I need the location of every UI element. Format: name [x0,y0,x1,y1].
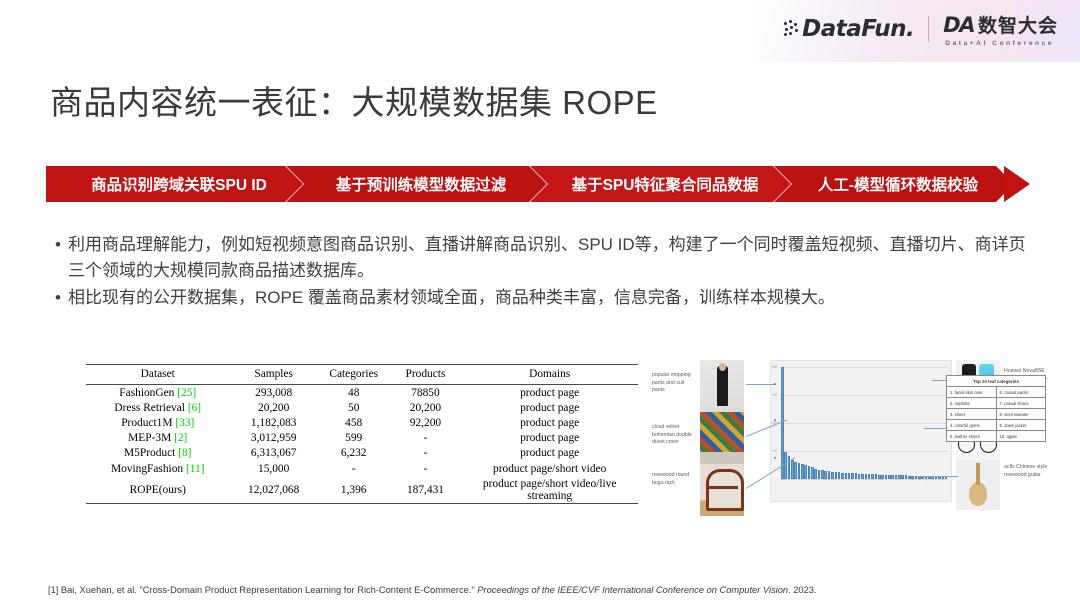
category-distribution-chart: 400 300 200 100 facial skin carenephrite… [770,360,952,502]
chart-bar [824,471,827,479]
chart-bar [828,471,831,479]
chart-bar [818,470,821,479]
top10-right-3: 8. wool sweater [996,409,1046,419]
cell-domains: product page [461,446,638,461]
process-step-3[interactable]: 基于SPU特征聚合同品数据 [530,166,792,202]
y-tick-3: 100 [772,449,777,453]
process-step-3-label: 基于SPU特征聚合同品数据 [572,173,759,195]
right-caption-3: acfls Chinese style rosewood guitar [1004,464,1050,479]
table-row: 3. sheet 8. wool sweater [947,409,1045,420]
bullet-list: • 利用商品理解能力，例如短视频意图商品识别、直播讲解商品识别、SPU ID等，… [48,232,1038,311]
process-step-2-label: 基于预训练模型数据过滤 [336,173,507,195]
top10-right-2: 7. casual shoes [996,398,1046,408]
cell-samples: 20,200 [230,400,318,415]
dataset-name: ROPE(ours) [130,484,186,496]
top10-right-4: 9. down jacket [996,420,1046,430]
citation-ref: [11] [186,463,205,475]
bullet-text-2: 相比现有的公开数据集，ROPE 覆盖商品素材领域全面，商品种类丰富，信息完备，训… [68,285,1038,311]
cell-samples: 3,012,959 [230,431,318,446]
dataset-name: MovingFashion [111,463,183,475]
dataset-name: Dress Retrieval [114,402,185,414]
left-caption-1: popular mopping pants and suit pants [652,372,698,395]
chart-bar [835,472,838,479]
col-header-categories: Categories [318,365,390,385]
citation-ref: [6] [188,402,201,414]
cell-domains: product page [461,431,638,446]
cell-dataset: ROPE(ours) [86,476,230,504]
dataset-name: MEP-3M [128,432,171,444]
cell-domains: product page [461,415,638,430]
cell-products: - [390,461,462,476]
cell-categories: - [318,461,390,476]
datafun-wordmark: DataFun. [802,16,914,42]
cell-domains: product page/short video [461,461,638,476]
top10-left-1: 1. facial skin care [947,387,996,397]
chart-bars [781,367,947,479]
process-step-1[interactable]: 商品识别跨域关联SPU ID [46,166,304,202]
cell-samples: 293,008 [230,385,318,401]
cell-samples: 12,027,068 [230,476,318,504]
y-tick-1: 300 [772,393,777,397]
da-mark: DA [943,13,974,37]
chart-bar [811,467,814,479]
table-row: ROPE(ours) 12,027,068 1,396 187,431 prod… [86,476,638,504]
cell-domains: product page/short video/live streaming [461,476,638,504]
top10-left-2: 2. nephrite [947,398,996,408]
cell-samples: 6,313,067 [230,446,318,461]
citation-ref: [25] [177,387,196,399]
top10-title: Top 10 leaf categories [947,376,1045,387]
cell-categories: 6,232 [318,446,390,461]
table-row: MovingFashion [11] 15,000 - - product pa… [86,461,638,476]
top10-left-5: 5. leather shoes [947,431,996,441]
cell-categories: 50 [318,400,390,415]
footnote-citation: [1] Bai, Xuehan, et al. "Cross-Domain Pr… [48,584,1048,596]
chart-bar [814,469,817,479]
bullet-marker-icon: • [48,232,68,258]
cell-dataset: MEP-3M [2] [86,431,230,446]
table-header: Dataset Samples Categories Products Doma… [86,365,638,385]
chart-bar [781,367,784,479]
table-header-row: Dataset Samples Categories Products Doma… [86,365,638,385]
footnote-suffix: . 2023. [788,585,816,595]
citation-ref: [2] [174,432,187,444]
chart-bar [784,452,787,479]
col-header-samples: Samples [230,365,318,385]
top10-right-1: 6. casual pants [996,387,1046,397]
chart-bar [801,464,804,479]
slide-root: DataFun. DA 数智大会 Data+AI Conference 商品内容… [0,0,1080,608]
chart-bar [821,470,824,479]
bullet-text-1: 利用商品理解能力，例如短视频意图商品识别、直播讲解商品识别、SPU ID等，构建… [68,232,1038,285]
chart-bar [838,472,841,479]
list-item: • 利用商品理解能力，例如短视频意图商品识别、直播讲解商品识别、SPU ID等，… [48,232,1038,285]
chart-bar [808,466,811,479]
connector-node-2 [774,419,776,421]
cell-categories: 458 [318,415,390,430]
cell-products: - [390,446,462,461]
table-row: 1. facial skin care 6. casual pants [947,387,1045,398]
cell-domains: product page [461,400,638,415]
top10-right-5: 10. agate [996,431,1046,441]
process-step-4[interactable]: 人工-模型循环数据校验 [774,166,1014,202]
dataset-comparison-table: Dataset Samples Categories Products Doma… [86,364,638,504]
chart-x-tick-labels: facial skin carenephritesheetcolorful ge… [781,479,947,499]
da-conference-logo: DA 数智大会 Data+AI Conference [943,11,1058,47]
list-item: • 相比现有的公开数据集，ROPE 覆盖商品素材领域全面，商品种类丰富，信息完备… [48,285,1038,311]
cell-products: - [390,431,462,446]
table-row: Product1M [33] 1,182,083 458 92,200 prod… [86,415,638,430]
left-caption-2: cloud velvet bohemian double duvet cover [652,424,698,447]
cell-products: 20,200 [390,400,462,415]
chevron-arrow-head-icon [1004,166,1030,202]
datafun-logo: DataFun. [784,16,914,42]
cell-categories: 48 [318,385,390,401]
table-row: Dress Retrieval [6] 20,200 50 20,200 pro… [86,400,638,415]
col-header-domains: Domains [461,365,638,385]
cell-categories: 599 [318,431,390,446]
page-title: 商品内容统一表征：大规模数据集 ROPE [50,76,658,124]
left-caption-3: rosewood round bogu rack [652,472,698,487]
top10-left-3: 3. sheet [947,409,996,419]
cell-products: 78850 [390,385,462,401]
citation-ref: [33] [175,417,194,429]
rope-dataset-figure: popular mopping pants and suit pants clo… [652,358,1048,518]
footnote-prefix: [1] Bai, Xuehan, et al. "Cross-Domain Pr… [48,585,477,595]
chart-bar [804,465,807,479]
cell-samples: 15,000 [230,461,318,476]
chart-bar [798,463,801,479]
process-step-1-label: 商品识别跨域关联SPU ID [91,173,267,195]
table-body: FashionGen [25] 293,008 48 78850 product… [86,385,638,504]
cell-dataset: Dress Retrieval [6] [86,400,230,415]
citation-ref: [8] [178,447,191,459]
chart-plot-area: 400 300 200 100 [781,367,947,479]
dataset-name: Product1M [121,417,172,429]
top10-left-4: 4. colorful gems [947,420,996,430]
chart-bar [831,472,834,479]
cell-dataset: M5Product [8] [86,446,230,461]
process-step-2[interactable]: 基于预训练模型数据过滤 [286,166,548,202]
thumbnail-mopping-pants [700,360,744,412]
thumbnail-rosewood-guitar [956,460,1000,510]
thumbnail-duvet-cover [700,412,744,464]
col-header-dataset: Dataset [86,365,230,385]
table-row: M5Product [8] 6,313,067 6,232 - product … [86,446,638,461]
connector-line-6 [916,476,958,477]
cell-samples: 1,182,083 [230,415,318,430]
y-tick-0: 400 [772,365,777,369]
logo-divider [928,16,929,42]
table-row: MEP-3M [2] 3,012,959 599 - product page [86,431,638,446]
cell-products: 187,431 [390,476,462,504]
thumbnail-bogu-rack [700,464,744,516]
cell-dataset: MovingFashion [11] [86,461,230,476]
cell-dataset: Product1M [33] [86,415,230,430]
chart-bar [791,460,794,479]
table-row: 2. nephrite 7. casual shoes [947,398,1045,409]
table-row: 4. colorful gems 9. down jacket [947,420,1045,431]
table-row: 5. leather shoes 10. agate [947,431,1045,441]
dataset-name: FashionGen [119,387,174,399]
footnote-italic: Proceedings of the IEEE/CVF Internationa… [477,585,788,595]
cell-categories: 1,396 [318,476,390,504]
table-row: FashionGen [25] 293,008 48 78850 product… [86,385,638,401]
connector-node-3 [774,457,776,459]
brand-logo-bar: DataFun. DA 数智大会 Data+AI Conference [784,12,1058,46]
top10-categories-table: Top 10 leaf categories 1. facial skin ca… [946,375,1046,442]
cell-domains: product page [461,385,638,401]
cell-dataset: FashionGen [25] [86,385,230,401]
process-chevron-band: 商品识别跨域关联SPU ID 基于预训练模型数据过滤 基于SPU特征聚合同品数据… [46,166,1034,202]
figure-left-thumbnails [700,360,744,516]
col-header-products: Products [390,365,462,385]
connector-node-1 [774,383,776,385]
chart-bar [794,462,797,479]
bullet-marker-icon: • [48,285,68,311]
cell-products: 92,200 [390,415,462,430]
dataset-name: M5Product [124,447,175,459]
process-step-4-label: 人工-模型循环数据校验 [818,173,978,195]
dataset-comparison-table-wrap: Dataset Samples Categories Products Doma… [86,364,638,504]
da-subtitle: Data+AI Conference [943,40,1054,47]
da-chinese-name: 数智大会 [978,11,1058,38]
datafun-dots-icon [784,20,800,38]
connector-line-1 [746,384,776,385]
